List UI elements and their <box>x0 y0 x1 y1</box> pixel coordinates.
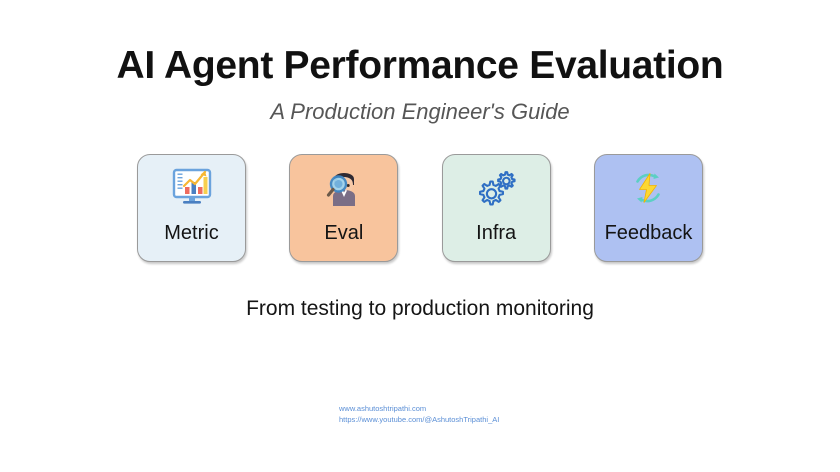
page-title: AI Agent Performance Evaluation <box>0 44 840 88</box>
card-label-eval: Eval <box>324 222 363 244</box>
card-label-infra: Infra <box>476 222 516 244</box>
gears-icon <box>473 166 519 210</box>
card-metric[interactable]: Metric <box>137 154 246 262</box>
tagline-text: From testing to production monitoring <box>0 297 840 321</box>
card-label-metric: Metric <box>164 222 218 244</box>
footer-youtube-link[interactable]: https://www.youtube.com/@AshutoshTripath… <box>339 415 499 426</box>
chart-monitor-icon <box>169 166 215 210</box>
category-card-row: Metric Eval <box>137 154 703 262</box>
card-feedback[interactable]: Feedback <box>594 154 703 262</box>
footer-links: www.ashutoshtripathi.com https://www.you… <box>339 404 499 425</box>
card-label-feedback: Feedback <box>605 222 693 244</box>
lightning-refresh-icon <box>625 166 671 210</box>
page-subtitle: A Production Engineer's Guide <box>0 99 840 125</box>
detective-inspector-icon <box>321 166 367 210</box>
footer-website-link[interactable]: www.ashutoshtripathi.com <box>339 404 499 415</box>
slide-canvas: AI Agent Performance Evaluation A Produc… <box>0 0 840 472</box>
card-eval[interactable]: Eval <box>289 154 398 262</box>
card-infra[interactable]: Infra <box>442 154 551 262</box>
